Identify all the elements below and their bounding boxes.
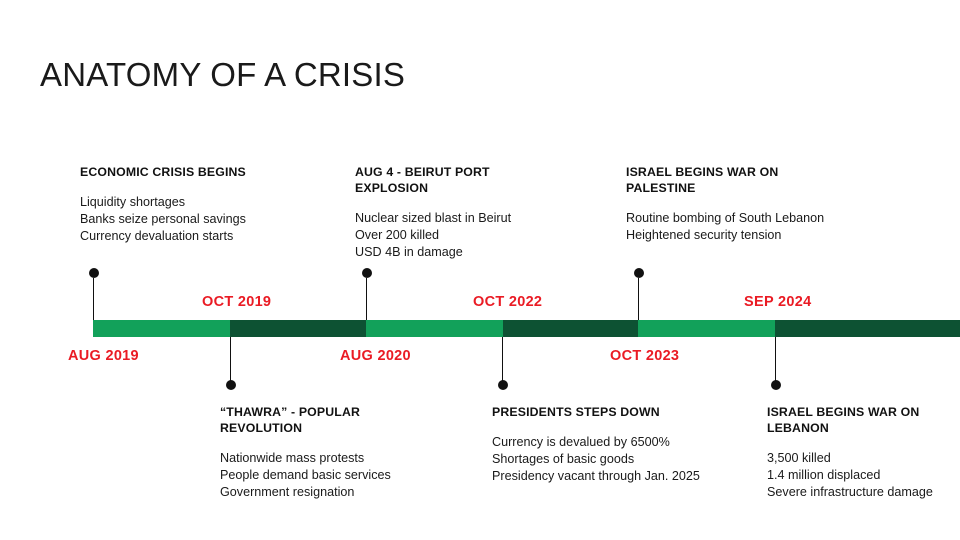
timeline-segment [366,320,503,337]
event-detail-line: Severe infrastructure damage [767,484,957,501]
marker-dot-icon [771,380,781,390]
timeline-date-label: OCT 2019 [202,294,271,310]
timeline-bar [93,320,960,337]
event-details: Currency is devalued by 6500%Shortages o… [492,434,762,485]
event-title: “THAWRA” - POPULAR REVOLUTION [220,404,485,436]
event-title: AUG 4 - BEIRUT PORT EXPLOSION [355,164,620,196]
marker-connector-line [230,337,231,381]
timeline-date-label: AUG 2020 [340,348,411,364]
marker-dot-icon [498,380,508,390]
upper-event-block: AUG 4 - BEIRUT PORT EXPLOSIONNuclear siz… [355,164,620,261]
event-detail-line: Nationwide mass protests [220,450,485,467]
event-title: ECONOMIC CRISIS BEGINS [80,164,350,180]
timeline-segment [93,320,230,337]
slide-canvas: ANATOMY OF A CRISIS OCT 2019OCT 2022SEP … [0,0,960,540]
upper-event-block: ECONOMIC CRISIS BEGINSLiquidity shortage… [80,164,350,245]
timeline-segment [503,320,638,337]
event-detail-line: Government resignation [220,484,485,501]
timeline-date-label: SEP 2024 [744,294,811,310]
event-detail-line: Banks seize personal savings [80,211,350,228]
marker-connector-line [502,337,503,381]
event-title: PRESIDENTS STEPS DOWN [492,404,762,420]
event-detail-line: Shortages of basic goods [492,451,762,468]
marker-dot-icon [89,268,99,278]
timeline-segment [775,320,960,337]
marker-dot-icon [634,268,644,278]
event-detail-line: Over 200 killed [355,227,620,244]
event-detail-line: People demand basic services [220,467,485,484]
page-title: ANATOMY OF A CRISIS [40,55,405,95]
upper-event-block: ISRAEL BEGINS WAR ON PALESTINERoutine bo… [626,164,916,244]
event-details: Nationwide mass protestsPeople demand ba… [220,450,485,501]
event-detail-line: Nuclear sized blast in Beirut [355,210,620,227]
event-detail-line: Currency is devalued by 6500% [492,434,762,451]
event-details: Routine bombing of South LebanonHeighten… [626,210,916,244]
marker-connector-line [775,337,776,381]
marker-dot-icon [226,380,236,390]
lower-event-block: “THAWRA” - POPULAR REVOLUTIONNationwide … [220,404,485,501]
marker-connector-line [93,278,94,320]
event-detail-line: 3,500 killed [767,450,957,467]
event-detail-line: USD 4B in damage [355,244,620,261]
event-detail-line: 1.4 million displaced [767,467,957,484]
lower-event-block: PRESIDENTS STEPS DOWNCurrency is devalue… [492,404,762,485]
timeline-marker-up-0 [93,0,94,540]
timeline-date-label: OCT 2022 [473,294,542,310]
event-details: Liquidity shortagesBanks seize personal … [80,194,350,245]
marker-connector-line [638,278,639,320]
timeline-date-label: OCT 2023 [610,348,679,364]
event-detail-line: Presidency vacant through Jan. 2025 [492,468,762,485]
lower-event-block: ISRAEL BEGINS WAR ON LEBANON3,500 killed… [767,404,957,501]
timeline-date-label: AUG 2019 [68,348,139,364]
event-detail-line: Currency devaluation starts [80,228,350,245]
event-title: ISRAEL BEGINS WAR ON LEBANON [767,404,957,436]
timeline-segment [230,320,366,337]
event-detail-line: Liquidity shortages [80,194,350,211]
event-details: 3,500 killed1.4 million displacedSevere … [767,450,957,501]
event-detail-line: Heightened security tension [626,227,916,244]
marker-connector-line [366,278,367,320]
event-title: ISRAEL BEGINS WAR ON PALESTINE [626,164,916,196]
timeline-segment [638,320,775,337]
marker-dot-icon [362,268,372,278]
event-details: Nuclear sized blast in BeirutOver 200 ki… [355,210,620,261]
event-detail-line: Routine bombing of South Lebanon [626,210,916,227]
